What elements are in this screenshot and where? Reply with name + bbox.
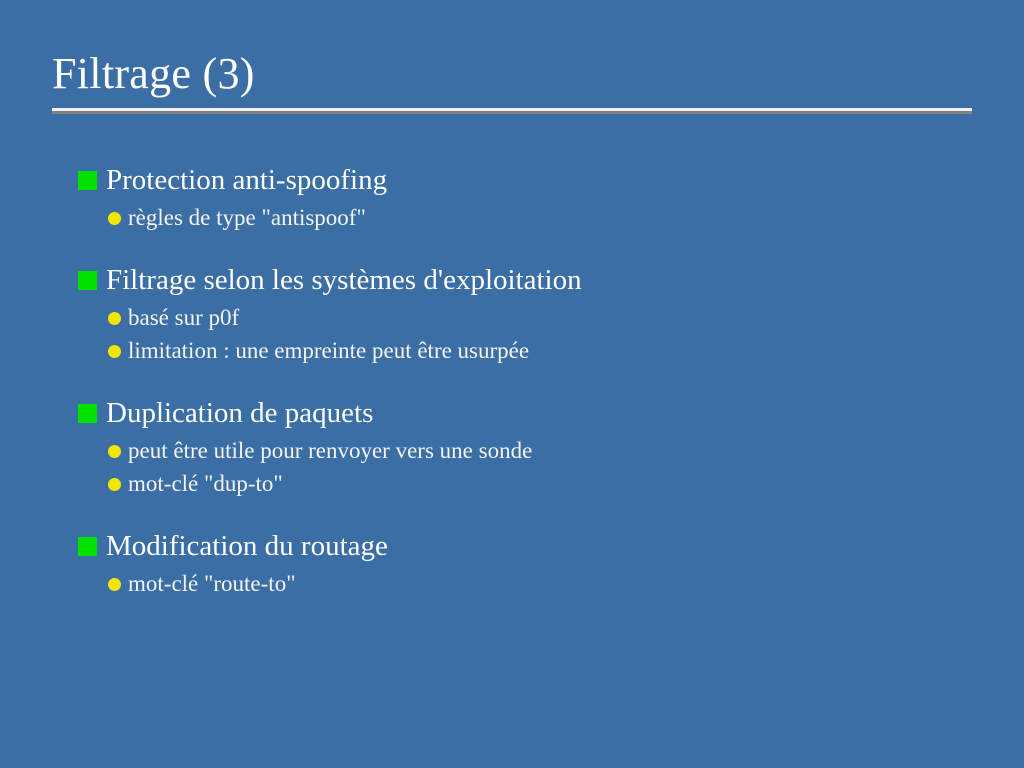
bullet-level2-label: peut être utile pour renvoyer vers une s… [128,434,532,467]
bullet-level2: basé sur p0f [0,301,1024,334]
sub-bullet-list: peut être utile pour renvoyer vers une s… [0,434,1024,500]
square-bullet-icon [78,271,97,290]
bullet-level2: peut être utile pour renvoyer vers une s… [0,434,1024,467]
slide-content: Protection anti-spoofing règles de type … [0,160,1024,600]
bullet-level1: Modification du routage [0,526,1024,567]
square-bullet-icon [78,171,97,190]
bullet-level2-label: règles de type "antispoof" [128,201,366,234]
sub-bullet-list: basé sur p0f limitation : une empreinte … [0,301,1024,367]
dot-bullet-icon [108,312,121,325]
title-block: Filtrage (3) [52,48,972,114]
bullet-level2: règles de type "antispoof" [0,201,1024,234]
bullet-level1: Filtrage selon les systèmes d'exploitati… [0,260,1024,301]
bullet-level1-label: Filtrage selon les systèmes d'exploitati… [106,260,582,301]
dot-bullet-icon [108,445,121,458]
bullet-level1-label: Modification du routage [106,526,388,567]
square-bullet-icon [78,537,97,556]
sub-bullet-list: règles de type "antispoof" [0,201,1024,234]
bullet-level2-label: mot-clé "route-to" [128,567,296,600]
bullet-level1: Duplication de paquets [0,393,1024,434]
bullet-group: Filtrage selon les systèmes d'exploitati… [0,260,1024,367]
bullet-group: Protection anti-spoofing règles de type … [0,160,1024,234]
bullet-level1-label: Protection anti-spoofing [106,160,387,201]
bullet-level2: mot-clé "dup-to" [0,467,1024,500]
bullet-level1-label: Duplication de paquets [106,393,373,434]
dot-bullet-icon [108,345,121,358]
page-title: Filtrage (3) [52,48,972,100]
dot-bullet-icon [108,578,121,591]
title-divider [52,108,972,114]
bullet-level2-label: limitation : une empreinte peut être usu… [128,334,529,367]
bullet-level2-label: mot-clé "dup-to" [128,467,283,500]
bullet-level2: mot-clé "route-to" [0,567,1024,600]
bullet-level2: limitation : une empreinte peut être usu… [0,334,1024,367]
dot-bullet-icon [108,212,121,225]
dot-bullet-icon [108,478,121,491]
square-bullet-icon [78,404,97,423]
bullet-level1: Protection anti-spoofing [0,160,1024,201]
bullet-level2-label: basé sur p0f [128,301,239,334]
bullet-group: Modification du routage mot-clé "route-t… [0,526,1024,600]
presentation-slide: Filtrage (3) Protection anti-spoofing rè… [0,0,1024,768]
sub-bullet-list: mot-clé "route-to" [0,567,1024,600]
bullet-group: Duplication de paquets peut être utile p… [0,393,1024,500]
